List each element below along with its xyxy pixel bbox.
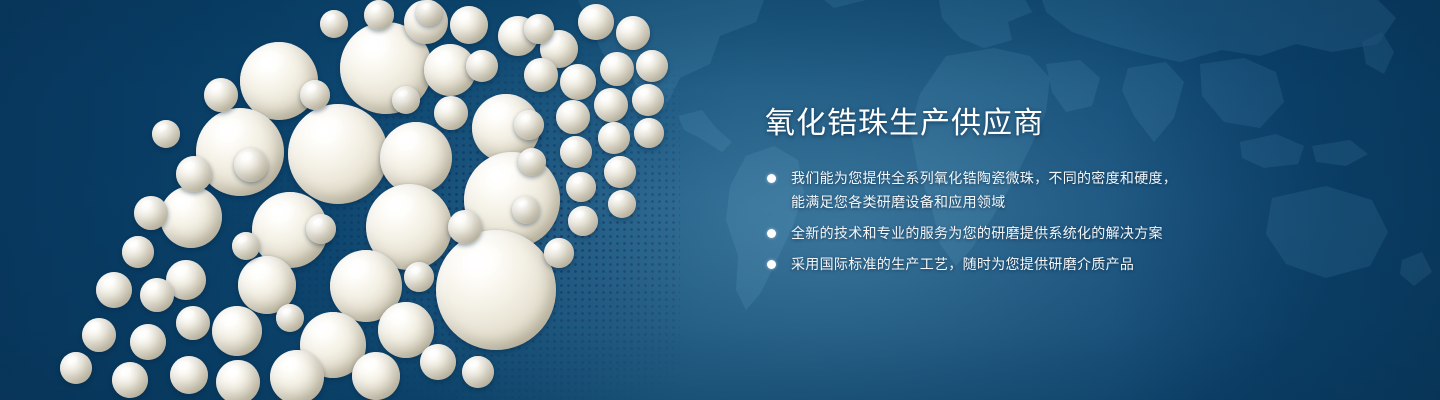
banner-feature-list: 我们能为您提供全系列氧化锆陶瓷微珠，不同的密度和硬度， 能满足您各类研磨设备和应… (765, 166, 1235, 276)
bullet-dot-icon (767, 229, 776, 238)
feature-item: 采用国际标准的生产工艺，随时为您提供研磨介质产品 (765, 252, 1235, 276)
feature-line-1: 全新的技术和专业的服务为您的研磨提供系统化的解决方案 (791, 225, 1163, 241)
feature-line-1: 我们能为您提供全系列氧化锆陶瓷微珠，不同的密度和硬度， (791, 170, 1177, 186)
feature-item: 我们能为您提供全系列氧化锆陶瓷微珠，不同的密度和硬度， 能满足您各类研磨设备和应… (765, 166, 1235, 214)
bullet-dot-icon (767, 174, 776, 183)
hero-banner: 氧化锆珠生产供应商 我们能为您提供全系列氧化锆陶瓷微珠，不同的密度和硬度， 能满… (0, 0, 1440, 400)
feature-line-1: 采用国际标准的生产工艺，随时为您提供研磨介质产品 (791, 256, 1134, 272)
bullet-dot-icon (767, 260, 776, 269)
feature-line-2: 能满足您各类研磨设备和应用领域 (791, 190, 1235, 214)
zirconia-beads-cluster-image (0, 0, 720, 400)
feature-item: 全新的技术和专业的服务为您的研磨提供系统化的解决方案 (765, 221, 1235, 245)
banner-headline: 氧化锆珠生产供应商 (765, 104, 1235, 144)
banner-copy: 氧化锆珠生产供应商 我们能为您提供全系列氧化锆陶瓷微珠，不同的密度和硬度， 能满… (765, 104, 1235, 283)
